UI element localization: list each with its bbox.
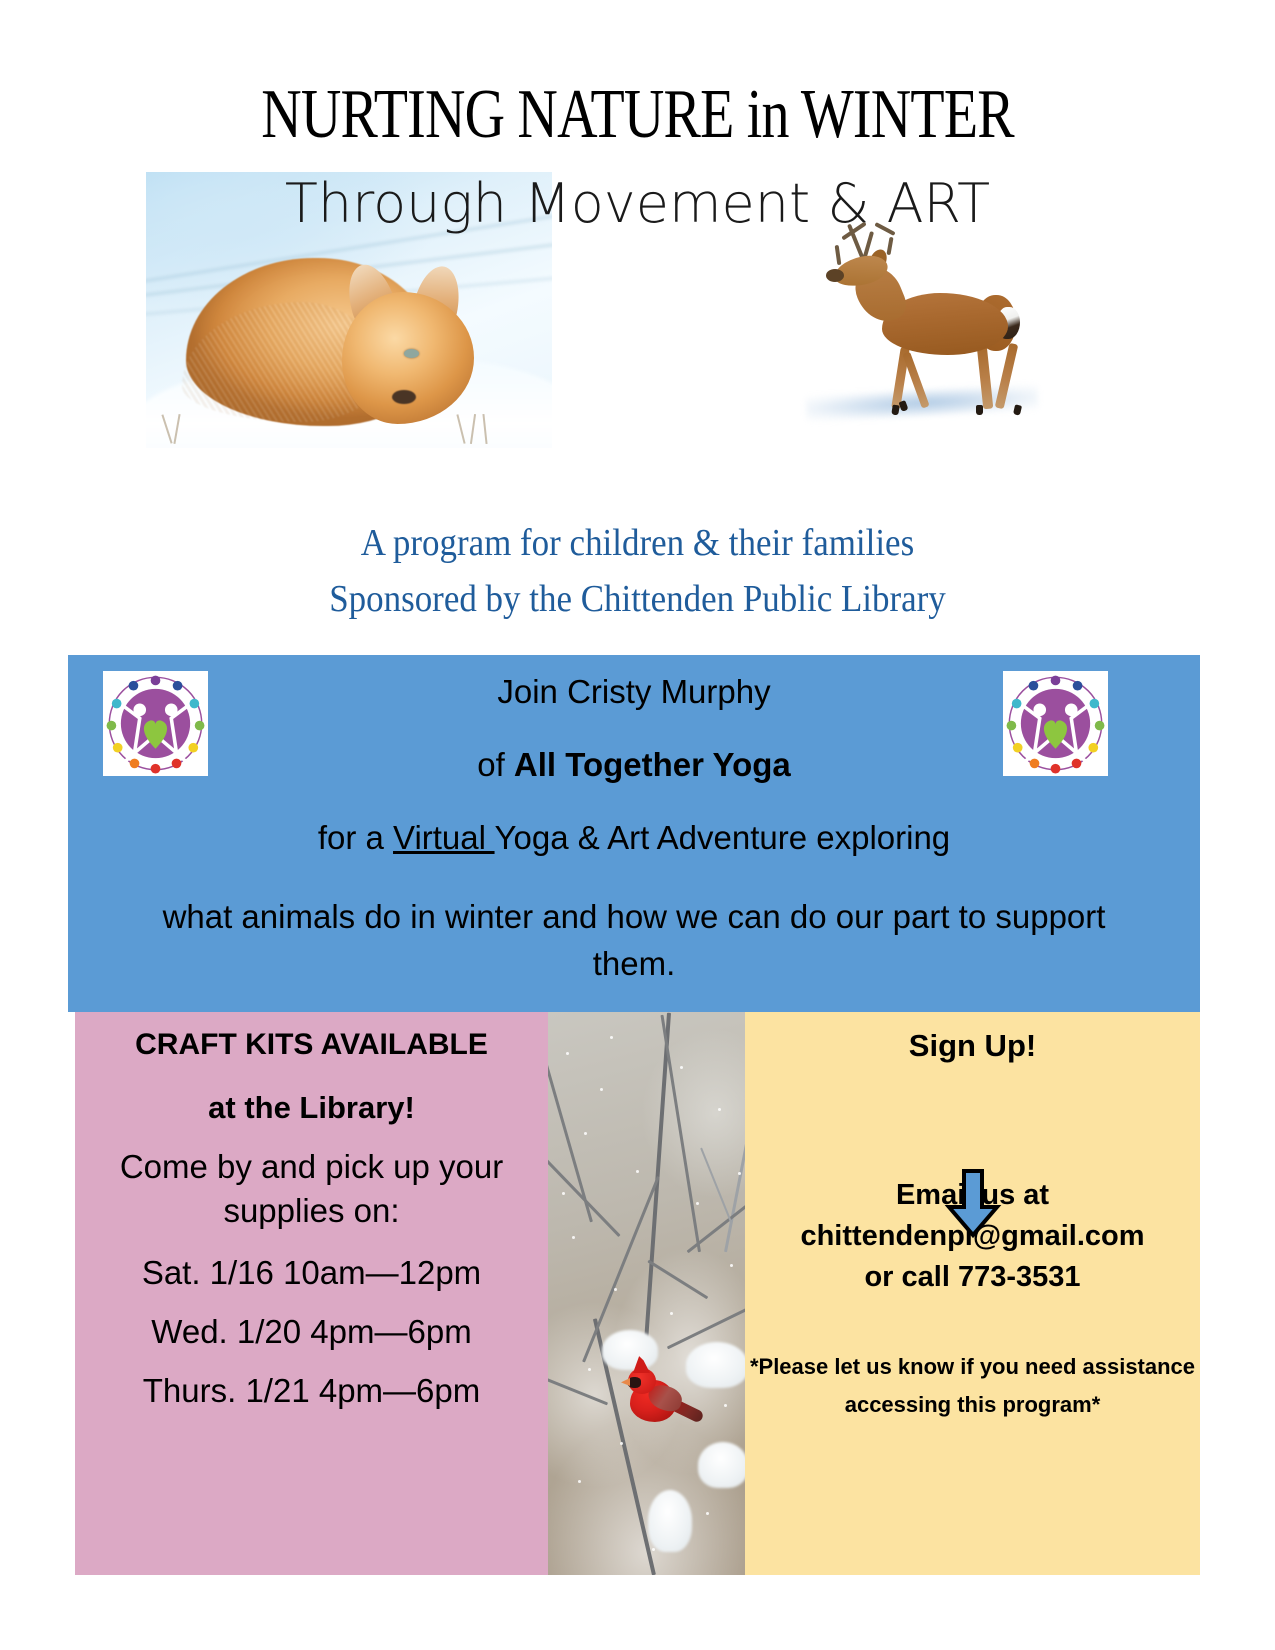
banner-line-description: what animals do in winter and how we can… [158,854,1110,988]
deer-muzzle [826,269,844,282]
banner-copy: Join Cristy Murphy of All Together Yoga … [158,663,1110,988]
signup-panel: Sign Up! Email us at chittendenpl@gmail.… [745,1012,1200,1575]
banner-adventure-a: for a [318,819,393,856]
signup-accessibility-note: *Please let us know if you need assistan… [745,1292,1200,1424]
deer-photo [762,215,1082,430]
banner-studio-name: All Together Yoga [514,746,791,783]
fox-eye [404,349,419,358]
banner-line-studio: of All Together Yoga [158,708,1110,781]
deer-antler [886,237,893,255]
banner-adventure-virtual: Virtual [393,819,495,856]
snow-clump [698,1442,745,1488]
intro-block: A program for children & their families … [51,515,1224,627]
banner-line-adventure: for a Virtual Yoga & Art Adventure explo… [158,781,1110,854]
craft-body: Come by and pick up your supplies on: [75,1123,548,1232]
signup-heading: Sign Up! [745,1012,1200,1061]
deer-hoof [976,405,983,415]
arrow-down-icon [943,1167,1003,1239]
page-title: NURTING NATURE in WINTER [128,80,1148,150]
banner-line-presenter: Join Cristy Murphy [158,663,1110,708]
page-subtitle: Through Movement & ART [0,177,1275,231]
craft-date-1: Sat. 1/16 10am—12pm [75,1232,548,1289]
craft-date-3: Thurs. 1/21 4pm—6pm [75,1348,548,1407]
signup-arrow-wrap [745,1067,1200,1153]
banner-studio-prefix: of [477,746,514,783]
signup-copy: Sign Up! Email us at chittendenpl@gmail.… [745,1012,1200,1424]
craft-heading-primary: CRAFT KITS AVAILABLE [75,1012,548,1060]
craft-heading-secondary: at the Library! [75,1060,548,1123]
fox-nose [392,390,416,404]
poster-page: NURTING NATURE in WINTER [0,0,1275,1650]
craft-kits-copy: CRAFT KITS AVAILABLE at the Library! Com… [75,1012,548,1407]
banner-adventure-b: Yoga & Art Adventure exploring [495,819,951,856]
snow-clump [686,1342,745,1388]
snow-clump [602,1330,658,1370]
craft-date-2: Wed. 1/20 4pm—6pm [75,1289,548,1348]
cardinal-photo [548,1012,745,1575]
signup-phone: or call 773-3531 [745,1251,1200,1292]
deer-hoof [1013,404,1022,415]
intro-line-audience: A program for children & their families [51,515,1224,571]
deer-antler [835,245,842,265]
snow-clump [648,1490,692,1552]
craft-kits-panel: CRAFT KITS AVAILABLE at the Library! Com… [75,1012,548,1575]
program-banner: Join Cristy Murphy of All Together Yoga … [68,655,1200,1012]
intro-line-sponsor: Sponsored by the Chittenden Public Libra… [51,571,1224,627]
